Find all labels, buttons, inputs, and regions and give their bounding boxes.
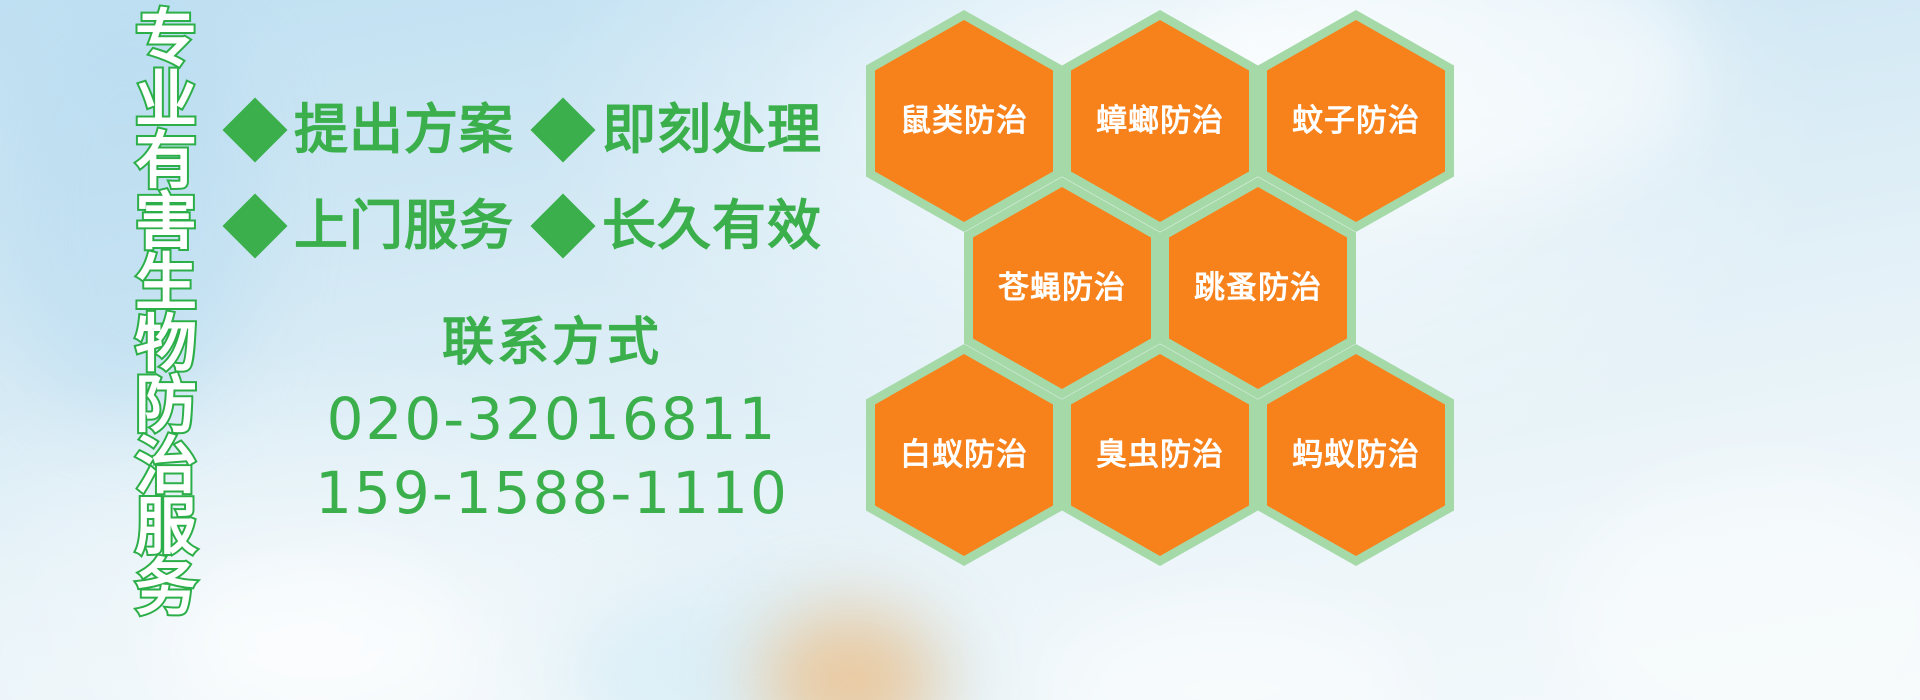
diamond-icon <box>530 97 595 162</box>
contact-phone-list: 020-32016811159-1588-1110 <box>232 382 872 530</box>
service-hex-fill: 跳蚤防治 <box>1169 187 1347 389</box>
service-hex-label: 蟑螂防治 <box>1096 105 1224 137</box>
vertical-headline-char: 治 <box>135 435 197 496</box>
feature-label: 提出方案 <box>294 103 514 157</box>
service-hex-label: 蚊子防治 <box>1292 105 1420 137</box>
feature-item: 长久有效 <box>540 199 822 253</box>
feature-row: 上门服务长久有效 <box>232 178 872 274</box>
vertical-headline-char: 防 <box>135 374 197 435</box>
contact-title: 联系方式 <box>232 312 872 374</box>
background-blob <box>1050 600 1410 700</box>
vertical-headline-char: 害 <box>135 191 197 252</box>
service-hex-fill: 苍蝇防治 <box>973 187 1151 389</box>
vertical-headline-char: 服 <box>135 496 197 557</box>
pest-control-banner: 专业有害生物防治服务 提出方案即刻处理上门服务长久有效 联系方式 020-320… <box>0 0 1920 700</box>
feature-label: 即刻处理 <box>602 103 822 157</box>
contact-phone[interactable]: 020-32016811 <box>232 382 872 456</box>
contact-phone[interactable]: 159-1588-1110 <box>232 456 872 530</box>
feature-label: 上门服务 <box>294 199 514 253</box>
feature-list: 提出方案即刻处理上门服务长久有效 <box>232 82 872 274</box>
service-hex-label: 苍蝇防治 <box>998 272 1126 304</box>
diamond-icon <box>530 193 595 258</box>
service-hex-label: 臭虫防治 <box>1096 439 1224 471</box>
service-hex-label: 蚂蚁防治 <box>1292 439 1420 471</box>
service-honeycomb: 鼠类防治蟑螂防治蚊子防治苍蝇防治跳蚤防治白蚁防治臭虫防治蚂蚁防治 <box>858 0 1478 580</box>
service-hex-label: 跳蚤防治 <box>1194 272 1322 304</box>
service-hex-fill: 白蚁防治 <box>875 354 1053 556</box>
feature-row: 提出方案即刻处理 <box>232 82 872 178</box>
feature-item: 提出方案 <box>232 103 514 157</box>
service-hex-fill: 蟑螂防治 <box>1071 20 1249 222</box>
service-hex-fill: 鼠类防治 <box>875 20 1053 222</box>
background-blob <box>1560 470 1920 700</box>
service-hex-fill: 臭虫防治 <box>1071 354 1249 556</box>
service-hex-label: 鼠类防治 <box>900 105 1028 137</box>
vertical-headline-char: 专 <box>135 8 197 69</box>
feature-label: 长久有效 <box>602 199 822 253</box>
service-hex-fill: 蚂蚁防治 <box>1267 354 1445 556</box>
feature-item: 上门服务 <box>232 199 514 253</box>
vertical-headline-char: 业 <box>135 69 197 130</box>
feature-item: 即刻处理 <box>540 103 822 157</box>
diamond-icon <box>222 193 287 258</box>
vertical-headline-char: 生 <box>135 252 197 313</box>
vertical-headline: 专业有害生物防治服务 <box>108 8 224 568</box>
vertical-headline-char: 有 <box>135 130 197 191</box>
contact-block: 联系方式 020-32016811159-1588-1110 <box>232 312 872 530</box>
background-blob <box>560 580 980 700</box>
diamond-icon <box>222 97 287 162</box>
background-blob <box>170 560 470 700</box>
background-blob <box>760 610 940 700</box>
service-hex-label: 白蚁防治 <box>900 439 1028 471</box>
vertical-headline-char: 物 <box>135 313 197 374</box>
vertical-headline-char: 务 <box>135 557 197 618</box>
service-hex-fill: 蚊子防治 <box>1267 20 1445 222</box>
